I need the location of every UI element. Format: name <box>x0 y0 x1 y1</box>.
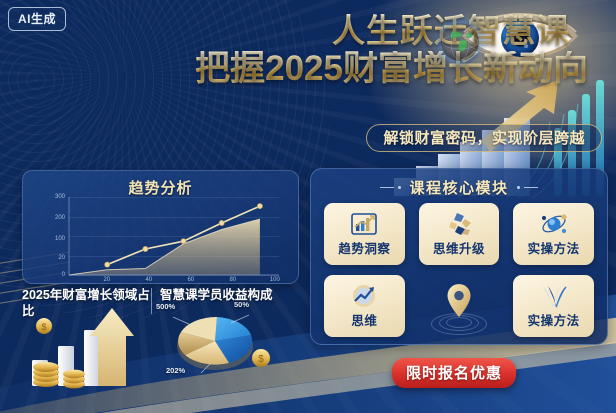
dash-dot-right-icon <box>517 186 538 189</box>
y-tick-100: 100 <box>55 236 65 242</box>
subtitle-pill: 解锁财富密码，实现阶层跨越 <box>366 124 602 152</box>
y-tick-0: 0 <box>62 272 65 278</box>
y-tick-20: 20 <box>58 255 65 261</box>
x-tick-80: 80 <box>229 277 236 283</box>
x-tick-100: 100 <box>270 277 280 283</box>
headline-block: 人生跃迁智慧课 把握2025财富增长新动向 <box>0 14 616 88</box>
trend-analysis-card: 趋势分析 300 200 100 20 0 20 40 60 80 100 <box>22 170 299 284</box>
module-label: 趋势洞察 <box>338 238 390 257</box>
dash-dot-left-icon <box>380 186 401 189</box>
checkmark-swoosh-icon <box>539 283 569 309</box>
poster-canvas: AI生成 <box>0 0 616 413</box>
modules-grid: 趋势洞察 思维升级 <box>324 203 594 337</box>
module-practical-method-1[interactable]: 实操方法 <box>513 203 594 265</box>
module-label: 实操方法 <box>528 310 580 329</box>
svg-text:$: $ <box>41 322 46 332</box>
pie-label-2: 202% <box>166 366 185 375</box>
location-pin-icon <box>419 275 500 337</box>
wealth-domain-label: 2025年财富增长领域占比 <box>22 288 152 319</box>
modules-title: 课程核心模块 <box>409 177 508 198</box>
x-tick-40: 40 <box>145 277 152 283</box>
chart-data-point <box>257 204 262 209</box>
module-location-pin <box>419 275 500 337</box>
y-tick-300: 300 <box>55 194 65 200</box>
chart-data-point <box>181 239 186 244</box>
ai-generated-badge: AI生成 <box>8 7 66 31</box>
y-tick-200: 200 <box>55 215 65 221</box>
trend-chart-plot <box>69 197 279 275</box>
label-divider <box>151 288 152 314</box>
student-income-label: 智慧课学员收益构成 <box>160 288 300 304</box>
title-line-2: 把握2025财富增长新动向 <box>0 51 606 88</box>
cta-button[interactable]: 限时报名优惠 <box>392 358 516 388</box>
module-practical-method-2[interactable]: 实操方法 <box>513 275 594 337</box>
module-label: 思维升级 <box>433 238 485 257</box>
module-trend-insight[interactable]: 趋势洞察 <box>324 203 405 265</box>
globe-icon <box>441 23 479 61</box>
growth-arrow-icon <box>349 283 379 309</box>
svg-text:$: $ <box>258 354 264 365</box>
x-tick-60: 60 <box>187 277 194 283</box>
income-pie-chart: $ 500% 50% 202% <box>158 296 278 388</box>
modules-title-row: 课程核心模块 <box>311 169 607 198</box>
chart-data-point <box>105 262 110 267</box>
chart-data-point <box>219 220 224 225</box>
module-mindset[interactable]: 思维 <box>324 275 405 337</box>
x-tick-20: 20 <box>103 277 110 283</box>
bar-chart-icon <box>349 211 379 237</box>
module-mindset-upgrade[interactable]: 思维升级 <box>419 203 500 265</box>
chart-data-point <box>143 246 148 251</box>
trend-chart: 300 200 100 20 0 20 40 60 80 100 <box>69 197 279 275</box>
puzzle-shapes-icon <box>444 211 474 237</box>
module-label: 实操方法 <box>528 238 580 257</box>
core-modules-card: 课程核心模块 趋势洞察 <box>310 168 608 345</box>
module-label: 思维 <box>351 310 377 329</box>
atom-network-icon <box>539 211 569 237</box>
